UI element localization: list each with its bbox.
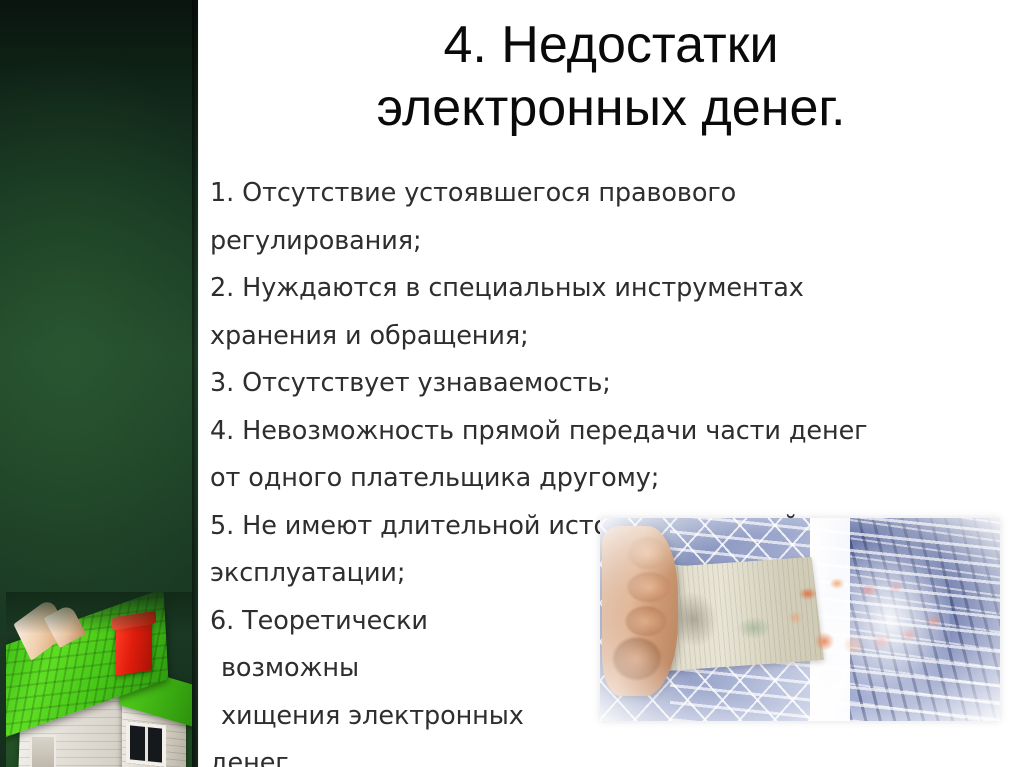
body-line-5: 3. Отсутствует узнаваемость; (210, 360, 970, 408)
body-line-1: 1. Отсутствие устоявшегося правового (210, 170, 970, 218)
presentation-slide: 4. Недостатки электронных денег. 1. Отсу… (0, 0, 1024, 767)
house-door (30, 735, 56, 767)
slide-title-line-2: электронных денег. (198, 77, 1024, 140)
slide-title-line-1: 4. Недостатки (198, 14, 1024, 77)
body-line-13: денег. (210, 740, 970, 767)
photo-highlight (830, 518, 950, 721)
body-line-7: от одного плательщика другому; (210, 455, 970, 503)
body-line-6: 4. Невозможность прямой передачи части д… (210, 408, 970, 456)
body-line-4: хранения и обращения; (210, 313, 970, 361)
slide-title: 4. Недостатки электронных денег. (198, 14, 1024, 141)
house-window (126, 721, 166, 767)
body-line-2: регулирования; (210, 218, 970, 266)
toy-house-image (6, 592, 192, 767)
house-chimney (116, 618, 152, 676)
sidebar-green-band (0, 0, 198, 767)
body-line-3: 2. Нуждаются в специальных инструментах (210, 265, 970, 313)
photo-hand (602, 526, 678, 696)
money-digital-image (600, 518, 1000, 721)
